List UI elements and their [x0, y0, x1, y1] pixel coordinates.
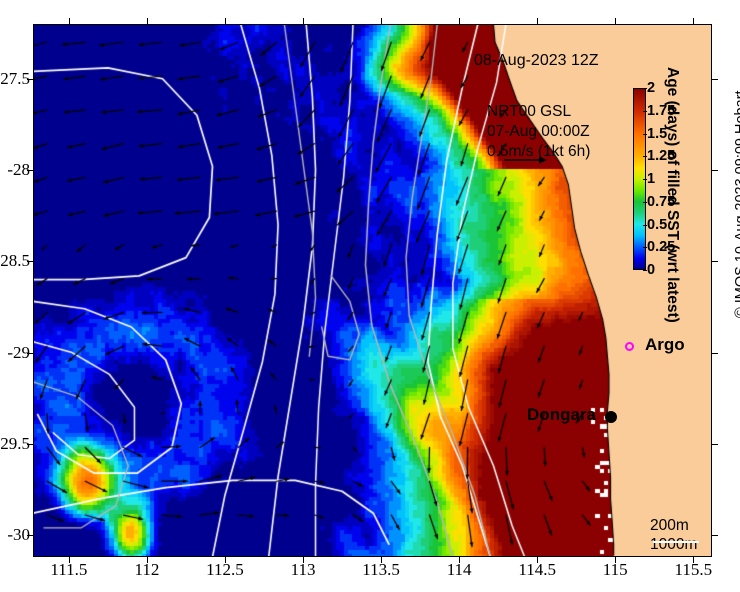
x-axis-tick-mark-top	[225, 18, 226, 24]
x-axis-tick-mark-top	[147, 18, 148, 24]
y-axis-tick-label: -27.5	[0, 69, 30, 89]
x-axis-tick-label: 113	[291, 560, 316, 580]
x-axis-tick-label: 113.5	[362, 560, 400, 580]
contours-and-current-vectors	[33, 24, 712, 557]
x-axis-tick-mark-top	[381, 18, 382, 24]
right-arrow-icon	[503, 155, 547, 165]
y-axis-tick-mark-right	[712, 261, 718, 262]
copyright-notice: © IMOS 10-Aug-2023 09:09 Hobart	[733, 90, 740, 318]
y-axis-tick-mark	[27, 535, 33, 536]
y-axis-tick-label: -29.5	[0, 434, 30, 454]
x-axis-tick-label: 115	[603, 560, 628, 580]
current-annotation-block: NRT00 GSL 07-Aug 00:00Z 0.5m/s (1kt 6h)	[487, 102, 590, 162]
x-axis-tick-mark-top	[537, 18, 538, 24]
date-stamp: 08-Aug-2023 12Z	[474, 52, 599, 70]
y-axis-tick-mark-right	[712, 535, 718, 536]
y-axis-tick-mark	[27, 444, 33, 445]
x-axis-tick-mark	[303, 557, 304, 563]
colorbar-tick-mark	[643, 134, 647, 135]
bathymetry-shallow-line-sample	[653, 541, 699, 543]
y-axis-tick-mark	[27, 79, 33, 80]
colorbar-tick-mark	[643, 179, 647, 180]
colorbar-tick-label: 0.75	[647, 194, 675, 210]
colorbar-tick-label: 0	[647, 262, 655, 278]
x-axis-tick-mark	[459, 557, 460, 563]
x-axis-tick-mark	[69, 557, 70, 563]
colorbar-tick-mark	[643, 225, 647, 226]
colorbar-tick-mark	[643, 202, 647, 203]
colorbar-tick-label: 1	[647, 171, 655, 187]
colorbar-title: Age (days) of filled SST (wrt latest)	[663, 67, 681, 297]
y-axis-tick-mark-right	[712, 444, 718, 445]
bathymetry-key: 200m 1000m	[650, 516, 697, 554]
x-axis-tick-mark	[537, 557, 538, 563]
x-axis-tick-mark	[381, 557, 382, 563]
y-axis-tick-mark-right	[712, 79, 718, 80]
current-time-label: 07-Aug 00:00Z	[487, 122, 590, 142]
y-axis-tick-mark	[27, 261, 33, 262]
x-axis-tick-mark-top	[69, 18, 70, 24]
x-axis-tick-mark-top	[693, 18, 694, 24]
colorbar-tick-mark	[643, 111, 647, 112]
x-axis-tick-label: 115.5	[674, 560, 712, 580]
colorbar-tick-mark	[643, 156, 647, 157]
colorbar-tick-label: 1.75	[647, 103, 675, 119]
x-axis-tick-mark	[693, 557, 694, 563]
x-axis-tick-mark-top	[303, 18, 304, 24]
bathymetry-200m-label: 200m	[650, 516, 697, 535]
colorbar-tick-mark	[643, 270, 647, 271]
map-plot-area[interactable]: 08-Aug-2023 12Z NRT00 GSL 07-Aug 00:00Z …	[33, 24, 712, 557]
y-axis-tick-mark-right	[712, 170, 718, 171]
colorbar-tick-label: 1.25	[647, 148, 675, 164]
x-axis-tick-label: 111.5	[50, 560, 87, 580]
figure-root: 08-Aug-2023 12Z NRT00 GSL 07-Aug 00:00Z …	[0, 0, 740, 592]
colorbar-tick-mark	[643, 247, 647, 248]
x-axis-tick-label: 114.5	[518, 560, 556, 580]
colorbar-tick-label: 0.25	[647, 239, 675, 255]
current-source-label: NRT00 GSL	[487, 102, 590, 122]
y-axis-tick-label: -28.5	[0, 251, 30, 271]
colorbar-tick-label: 0.5	[647, 217, 667, 233]
colorbar-tick-mark	[643, 88, 647, 89]
colorbar-tick-label: 1.5	[647, 126, 667, 142]
y-axis-tick-mark-right	[712, 353, 718, 354]
x-axis-tick-mark	[225, 557, 226, 563]
argo-legend-label: Argo	[645, 335, 685, 355]
x-axis-tick-mark-top	[615, 18, 616, 24]
dongara-place-label: Dongara	[527, 405, 596, 425]
bathymetry-1000m-label: 1000m	[650, 535, 697, 554]
colorbar-tick-label: 2	[647, 80, 655, 96]
x-axis-tick-mark-top	[459, 18, 460, 24]
x-axis-tick-label: 114	[447, 560, 472, 580]
x-axis-tick-label: 112.5	[206, 560, 244, 580]
dongara-marker-icon	[605, 411, 617, 423]
x-axis-tick-label: 112	[135, 560, 160, 580]
x-axis-tick-mark	[147, 557, 148, 563]
x-axis-tick-mark	[615, 557, 616, 563]
y-axis-tick-mark	[27, 170, 33, 171]
argo-marker-icon	[625, 342, 634, 351]
y-axis-tick-mark	[27, 353, 33, 354]
